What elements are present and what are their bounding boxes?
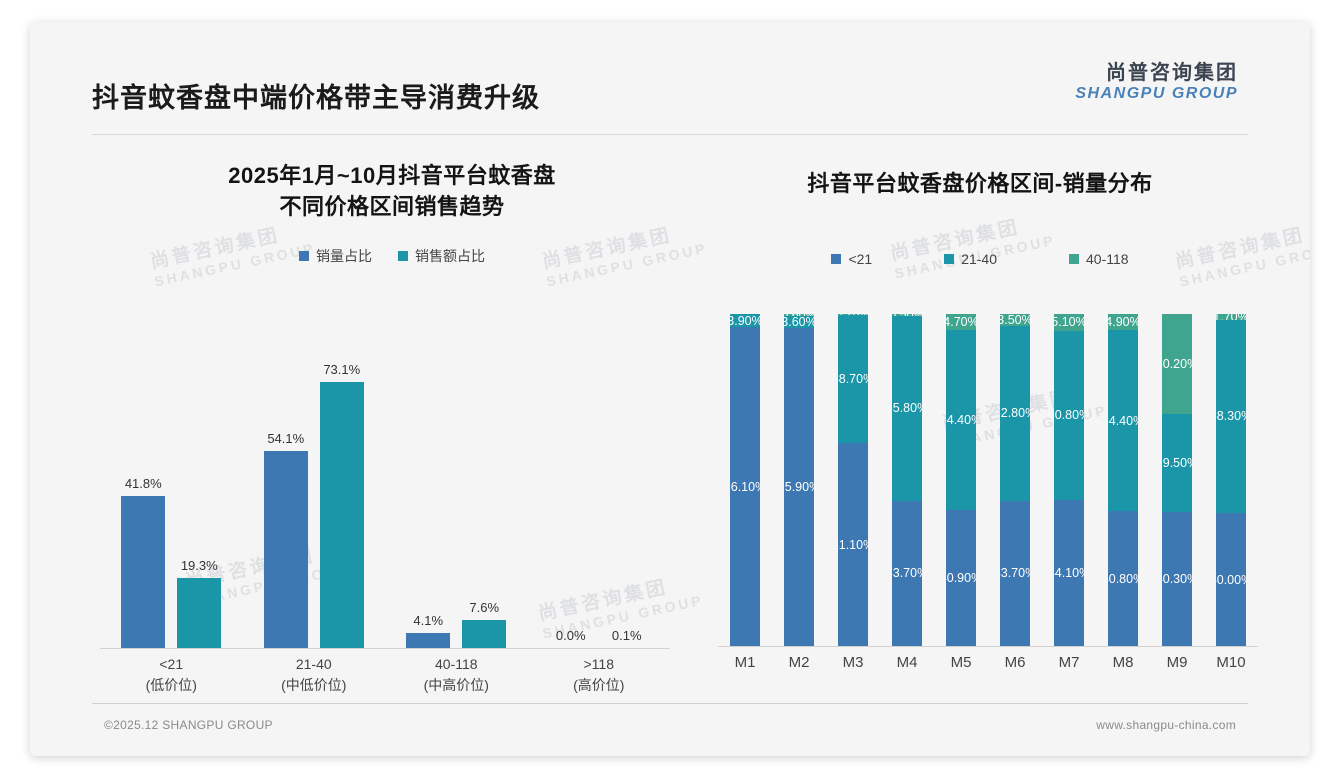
bar-segment[interactable]: 96.10%	[730, 327, 760, 646]
stacked-bar-column[interactable]: 4.70%54.40%40.90%	[934, 314, 988, 646]
x-axis-category-name: >118	[528, 654, 671, 675]
legend-swatch-icon	[1069, 254, 1079, 264]
x-axis-category-sublabel: (低价位)	[100, 675, 243, 696]
bar[interactable]	[406, 633, 450, 648]
x-axis-month-label: M10	[1204, 654, 1258, 671]
stacked-bar-column[interactable]: 0.60%3.60%95.90%	[772, 314, 826, 646]
x-axis-month-label: M1	[718, 654, 772, 671]
bar-segment[interactable]: 40.90%	[946, 510, 976, 646]
segment-value-label: 4.70%	[946, 315, 976, 329]
segment-value-label: 40.80%	[1108, 572, 1138, 586]
segment-value-label: 29.50%	[1162, 456, 1192, 470]
bar-segment[interactable]: 3.90%	[730, 314, 760, 327]
x-axis-month-label: M7	[1042, 654, 1096, 671]
bar-column[interactable]: 54.1%	[264, 360, 308, 648]
stacked-bar[interactable]: 0.60%3.60%95.90%	[784, 314, 814, 646]
bar-segment[interactable]: 5.10%	[1054, 314, 1084, 331]
legend-swatch-icon	[398, 251, 408, 261]
left-chart-title-line2: 不同价格区间销售趋势	[92, 191, 692, 222]
bar-column[interactable]: 7.6%	[462, 360, 506, 648]
logo-text-cn: 尚普咨询集团	[1075, 62, 1238, 84]
legend-swatch-icon	[831, 254, 841, 264]
bar-segment[interactable]: 61.10%	[838, 443, 868, 646]
slide-header: 抖音蚊香盘中端价格带主导消费升级 尚普咨询集团 SHANGPU GROUP	[30, 22, 1310, 100]
brand-logo: 尚普咨询集团 SHANGPU GROUP	[1075, 62, 1238, 103]
x-axis-category-name: <21	[100, 654, 243, 675]
segment-value-label: 96.10%	[730, 480, 760, 494]
bar-group: 54.1%73.1%	[243, 360, 386, 648]
bar-segment[interactable]: 58.30%	[1216, 320, 1246, 514]
stacked-bar[interactable]: 5.10%50.80%44.10%	[1054, 314, 1084, 646]
legend-label: <21	[848, 251, 872, 267]
x-axis-category: 21-40(中低价位)	[243, 654, 386, 696]
legend-item[interactable]: <21	[831, 251, 872, 267]
x-axis-category-sublabel: (中低价位)	[243, 675, 386, 696]
stacked-bar-column[interactable]: 0.20%38.70%61.10%	[826, 314, 880, 646]
legend-item[interactable]: 销售额占比	[398, 246, 485, 266]
legend-item[interactable]: 21-40	[944, 251, 997, 267]
left-chart-axis-line	[100, 648, 670, 649]
x-axis-month-label: M2	[772, 654, 826, 671]
bar-segment[interactable]: 4.70%	[946, 314, 976, 330]
stacked-bar[interactable]: 4.90%54.40%40.80%	[1108, 314, 1138, 646]
segment-value-label: 3.60%	[784, 315, 814, 329]
bar-value-label: 54.1%	[267, 431, 304, 446]
segment-value-label: 40.90%	[946, 571, 976, 585]
footer-divider	[92, 703, 1248, 704]
stacked-bar[interactable]: 1.70%58.30%40.00%	[1216, 314, 1246, 646]
segment-value-label: 54.40%	[1108, 414, 1138, 428]
bar[interactable]	[320, 382, 364, 648]
legend-item[interactable]: 销量占比	[299, 246, 372, 266]
segment-value-label: 55.80%	[892, 401, 922, 415]
segment-value-label: 3.90%	[730, 314, 760, 328]
bar-segment[interactable]: 3.50%	[1000, 314, 1030, 326]
segment-value-label: 5.10%	[1054, 315, 1084, 329]
bar-column[interactable]: 73.1%	[320, 360, 364, 648]
stacked-bar-column[interactable]: 4.90%54.40%40.80%	[1096, 314, 1150, 646]
legend-label: 销量占比	[316, 246, 372, 266]
x-axis-category: >118(高价位)	[528, 654, 671, 696]
legend-swatch-icon	[299, 251, 309, 261]
segment-value-label: 52.80%	[1000, 406, 1030, 420]
x-axis-category-sublabel: (中高价位)	[385, 675, 528, 696]
left-chart-panel: 2025年1月~10月抖音平台蚊香盘 不同价格区间销售趋势 销量占比 销售额占比…	[92, 146, 692, 706]
bar-value-label: 19.3%	[181, 558, 218, 573]
x-axis-month-label: M5	[934, 654, 988, 671]
segment-value-label: 43.70%	[1000, 566, 1030, 580]
slide: 尚普咨询集团 SHANGPU GROUP 尚普咨询集团 SHANGPU GROU…	[30, 22, 1310, 756]
legend-label: 40-118	[1086, 251, 1129, 267]
segment-value-label: 4.90%	[1108, 315, 1138, 329]
header-divider	[92, 134, 1248, 135]
footer-copyright: ©2025.12 SHANGPU GROUP	[104, 718, 273, 732]
bar-group: 4.1%7.6%	[385, 360, 528, 648]
segment-value-label: 50.80%	[1054, 408, 1084, 422]
footer-website[interactable]: www.shangpu-china.com	[1096, 718, 1236, 732]
bar-column[interactable]: 0.0%	[549, 360, 593, 648]
bar[interactable]	[177, 578, 221, 648]
x-axis-month-label: M9	[1150, 654, 1204, 671]
bar-segment[interactable]: 55.80%	[892, 316, 922, 501]
bar-segment[interactable]: 95.90%	[784, 328, 814, 646]
segment-value-label: 44.10%	[1054, 566, 1084, 580]
bar-group: 41.8%19.3%	[100, 360, 243, 648]
segment-value-label: 40.00%	[1216, 573, 1246, 587]
x-axis-month-label: M6	[988, 654, 1042, 671]
segment-value-label: 30.20%	[1162, 357, 1192, 371]
bar-segment[interactable]: 40.00%	[1216, 513, 1246, 646]
stacked-bar[interactable]: 30.20%29.50%40.30%	[1162, 314, 1192, 646]
bar-value-label: 0.1%	[612, 628, 642, 643]
bar-segment[interactable]: 29.50%	[1162, 414, 1192, 512]
legend-label: 21-40	[961, 251, 997, 267]
bar-value-label: 0.0%	[556, 628, 586, 643]
x-axis-category-name: 21-40	[243, 654, 386, 675]
left-chart-legend: 销量占比 销售额占比	[92, 246, 692, 266]
bar-column[interactable]: 0.1%	[605, 360, 649, 648]
bar-segment[interactable]: 30.20%	[1162, 314, 1192, 414]
x-axis-month-label: M4	[880, 654, 934, 671]
legend-label: 销售额占比	[415, 246, 485, 266]
stacked-bar[interactable]: 0.50%55.80%43.70%	[892, 314, 922, 646]
legend-swatch-icon	[944, 254, 954, 264]
left-chart-plot: 41.8%19.3%54.1%73.1%4.1%7.6%0.0%0.1%	[100, 360, 670, 648]
x-axis-category-sublabel: (高价位)	[528, 675, 671, 696]
bar-group: 0.0%0.1%	[528, 360, 671, 648]
right-chart-panel: 抖音平台蚊香盘价格区间-销量分布 <21 21-40 40-118 0.10%3…	[702, 146, 1258, 706]
right-chart-plot: 0.10%3.90%96.10%0.60%3.60%95.90%0.20%38.…	[718, 314, 1258, 646]
bar-segment[interactable]: 44.10%	[1054, 500, 1084, 646]
stacked-bar-column[interactable]: 5.10%50.80%44.10%	[1042, 314, 1096, 646]
bar-value-label: 4.1%	[413, 613, 443, 628]
right-chart-x-axis-labels: M1M2M3M4M5M6M7M8M9M10	[718, 654, 1258, 671]
stacked-bar-column[interactable]: 30.20%29.50%40.30%	[1150, 314, 1204, 646]
bar-segment[interactable]: 54.40%	[1108, 330, 1138, 511]
segment-value-label: 54.40%	[946, 413, 976, 427]
left-chart-x-axis-labels: <21(低价位)21-40(中低价位)40-118(中高价位)>118(高价位)	[100, 654, 670, 696]
bar-segment[interactable]: 4.90%	[1108, 314, 1138, 330]
x-axis-category-name: 40-118	[385, 654, 528, 675]
segment-value-label: 58.30%	[1216, 409, 1246, 423]
bar-column[interactable]: 4.1%	[406, 360, 450, 648]
bar-segment[interactable]: 40.30%	[1162, 512, 1192, 646]
stacked-bar-column[interactable]: 0.50%55.80%43.70%	[880, 314, 934, 646]
x-axis-month-label: M8	[1096, 654, 1150, 671]
stacked-bar-column[interactable]: 1.70%58.30%40.00%	[1204, 314, 1258, 646]
bar-segment[interactable]: 38.70%	[838, 315, 868, 443]
x-axis-month-label: M3	[826, 654, 880, 671]
stacked-bar[interactable]: 3.50%52.80%43.70%	[1000, 314, 1030, 646]
stacked-bar[interactable]: 4.70%54.40%40.90%	[946, 314, 976, 646]
segment-value-label: 43.70%	[892, 566, 922, 580]
bar-segment[interactable]: 43.70%	[1000, 501, 1030, 646]
right-chart-legend: <21 21-40 40-118	[702, 251, 1258, 267]
stacked-bar-column[interactable]: 3.50%52.80%43.70%	[988, 314, 1042, 646]
segment-value-label: 38.70%	[838, 372, 868, 386]
bar-column[interactable]: 19.3%	[177, 360, 221, 648]
bar-segment[interactable]: 54.40%	[946, 330, 976, 511]
bar-segment[interactable]: 52.80%	[1000, 326, 1030, 501]
left-chart-title: 2025年1月~10月抖音平台蚊香盘 不同价格区间销售趋势	[92, 146, 692, 222]
legend-item[interactable]: 40-118	[1069, 251, 1129, 267]
bar[interactable]	[264, 451, 308, 648]
right-chart-axis-line	[718, 646, 1258, 647]
x-axis-category: <21(低价位)	[100, 654, 243, 696]
stacked-bar[interactable]: 0.20%38.70%61.10%	[838, 314, 868, 646]
page-title: 抖音蚊香盘中端价格带主导消费升级	[92, 76, 540, 115]
bar[interactable]	[462, 620, 506, 648]
bar-segment[interactable]: 43.70%	[892, 501, 922, 646]
stacked-bar[interactable]: 0.10%3.90%96.10%	[730, 314, 760, 646]
bar-column[interactable]: 41.8%	[121, 360, 165, 648]
segment-value-label: 95.90%	[784, 480, 814, 494]
bar-segment[interactable]: 3.60%	[784, 316, 814, 328]
segment-value-label: 40.30%	[1162, 572, 1192, 586]
segment-value-label: 61.10%	[838, 538, 868, 552]
bar[interactable]	[121, 496, 165, 648]
left-chart-title-line1: 2025年1月~10月抖音平台蚊香盘	[92, 160, 692, 191]
x-axis-category: 40-118(中高价位)	[385, 654, 528, 696]
stacked-bar-column[interactable]: 0.10%3.90%96.10%	[718, 314, 772, 646]
logo-text-en: SHANGPU GROUP	[1075, 84, 1238, 103]
bar-value-label: 41.8%	[125, 476, 162, 491]
bar-segment[interactable]: 50.80%	[1054, 331, 1084, 500]
right-chart-title: 抖音平台蚊香盘价格区间-销量分布	[702, 146, 1258, 199]
bar-value-label: 73.1%	[323, 362, 360, 377]
bar-value-label: 7.6%	[469, 600, 499, 615]
bar-segment[interactable]: 40.80%	[1108, 511, 1138, 646]
